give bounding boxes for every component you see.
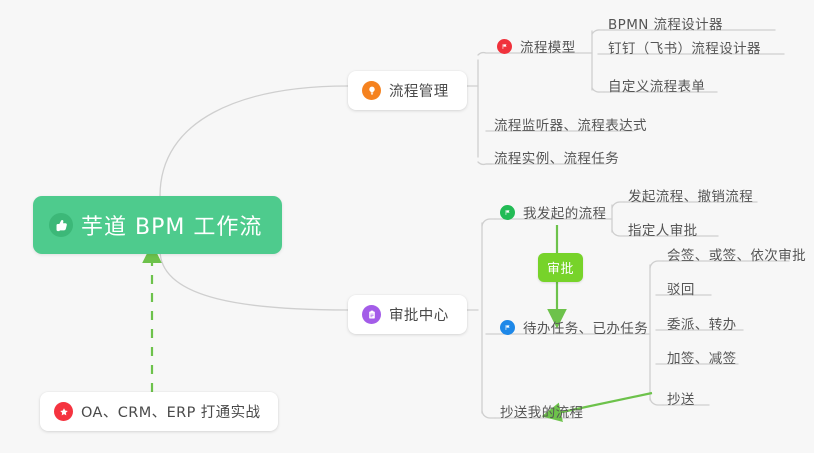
branch-label: 审批中心	[389, 304, 449, 325]
node-todo-done-tasks[interactable]: 待办任务、已办任务	[494, 315, 658, 342]
node-label: 流程监听器、流程表达式	[494, 114, 647, 134]
node-label: 加签、减签	[667, 347, 737, 367]
bottom-card-label: OA、CRM、ERP 打通实战	[81, 401, 260, 422]
node-start-cancel-process[interactable]: 发起流程、撤销流程	[620, 183, 763, 210]
node-label: 流程实例、流程任务	[494, 147, 619, 167]
node-dingtalk-designer[interactable]: 钉钉（飞书）流程设计器	[600, 35, 771, 62]
node-process-model[interactable]: 流程模型	[491, 34, 586, 61]
node-label: 待办任务、已办任务	[523, 317, 648, 337]
flag-icon	[500, 320, 515, 335]
node-label: 抄送我的流程	[500, 401, 583, 421]
mindmap-canvas: 芋道 BPM 工作流 流程管理 流程模型 BPMN 流程设计器 钉钉（飞书）流程…	[0, 0, 814, 453]
node-reject[interactable]: 驳回	[659, 276, 705, 303]
node-assignee-approval[interactable]: 指定人审批	[620, 217, 708, 244]
root-label: 芋道 BPM 工作流	[81, 209, 262, 241]
node-label: 流程模型	[520, 36, 576, 56]
node-cc[interactable]: 抄送	[659, 386, 705, 413]
node-label: 抄送	[667, 388, 695, 408]
node-label: 我发起的流程	[523, 202, 606, 222]
node-label: 自定义流程表单	[608, 75, 705, 95]
node-cc-to-me-process[interactable]: 抄送我的流程	[492, 399, 593, 426]
branch-label: 流程管理	[389, 80, 449, 101]
node-custom-form[interactable]: 自定义流程表单	[600, 73, 715, 100]
node-countersign[interactable]: 会签、或签、依次审批	[659, 242, 814, 269]
node-listener-expression[interactable]: 流程监听器、流程表达式	[486, 112, 657, 139]
node-bpmn-designer[interactable]: BPMN 流程设计器	[600, 11, 733, 38]
clipboard-icon	[362, 305, 381, 324]
branch-node-process-management[interactable]: 流程管理	[348, 71, 467, 110]
node-label: 会签、或签、依次审批	[667, 244, 806, 264]
node-label: 发起流程、撤销流程	[628, 185, 753, 205]
approve-pill: 审批	[538, 253, 583, 282]
node-label: 驳回	[667, 278, 695, 298]
branch-node-approval-center[interactable]: 审批中心	[348, 295, 467, 334]
flag-icon	[500, 205, 515, 220]
approve-pill-label: 审批	[547, 258, 574, 277]
node-label: 钉钉（飞书）流程设计器	[608, 37, 761, 57]
thumbs-up-icon	[49, 213, 73, 237]
node-label: BPMN 流程设计器	[608, 13, 723, 33]
node-instance-task[interactable]: 流程实例、流程任务	[486, 145, 629, 172]
node-delegate-transfer[interactable]: 委派、转办	[659, 311, 747, 338]
flag-icon	[497, 39, 512, 54]
node-my-initiated-process[interactable]: 我发起的流程	[494, 200, 616, 227]
node-add-remove-sign[interactable]: 加签、减签	[659, 345, 747, 372]
node-label: 委派、转办	[667, 313, 737, 333]
star-icon	[54, 402, 73, 421]
bottom-card-integration[interactable]: OA、CRM、ERP 打通实战	[40, 392, 278, 431]
node-label: 指定人审批	[628, 219, 698, 239]
lightbulb-icon	[362, 81, 381, 100]
root-node[interactable]: 芋道 BPM 工作流	[33, 196, 282, 254]
